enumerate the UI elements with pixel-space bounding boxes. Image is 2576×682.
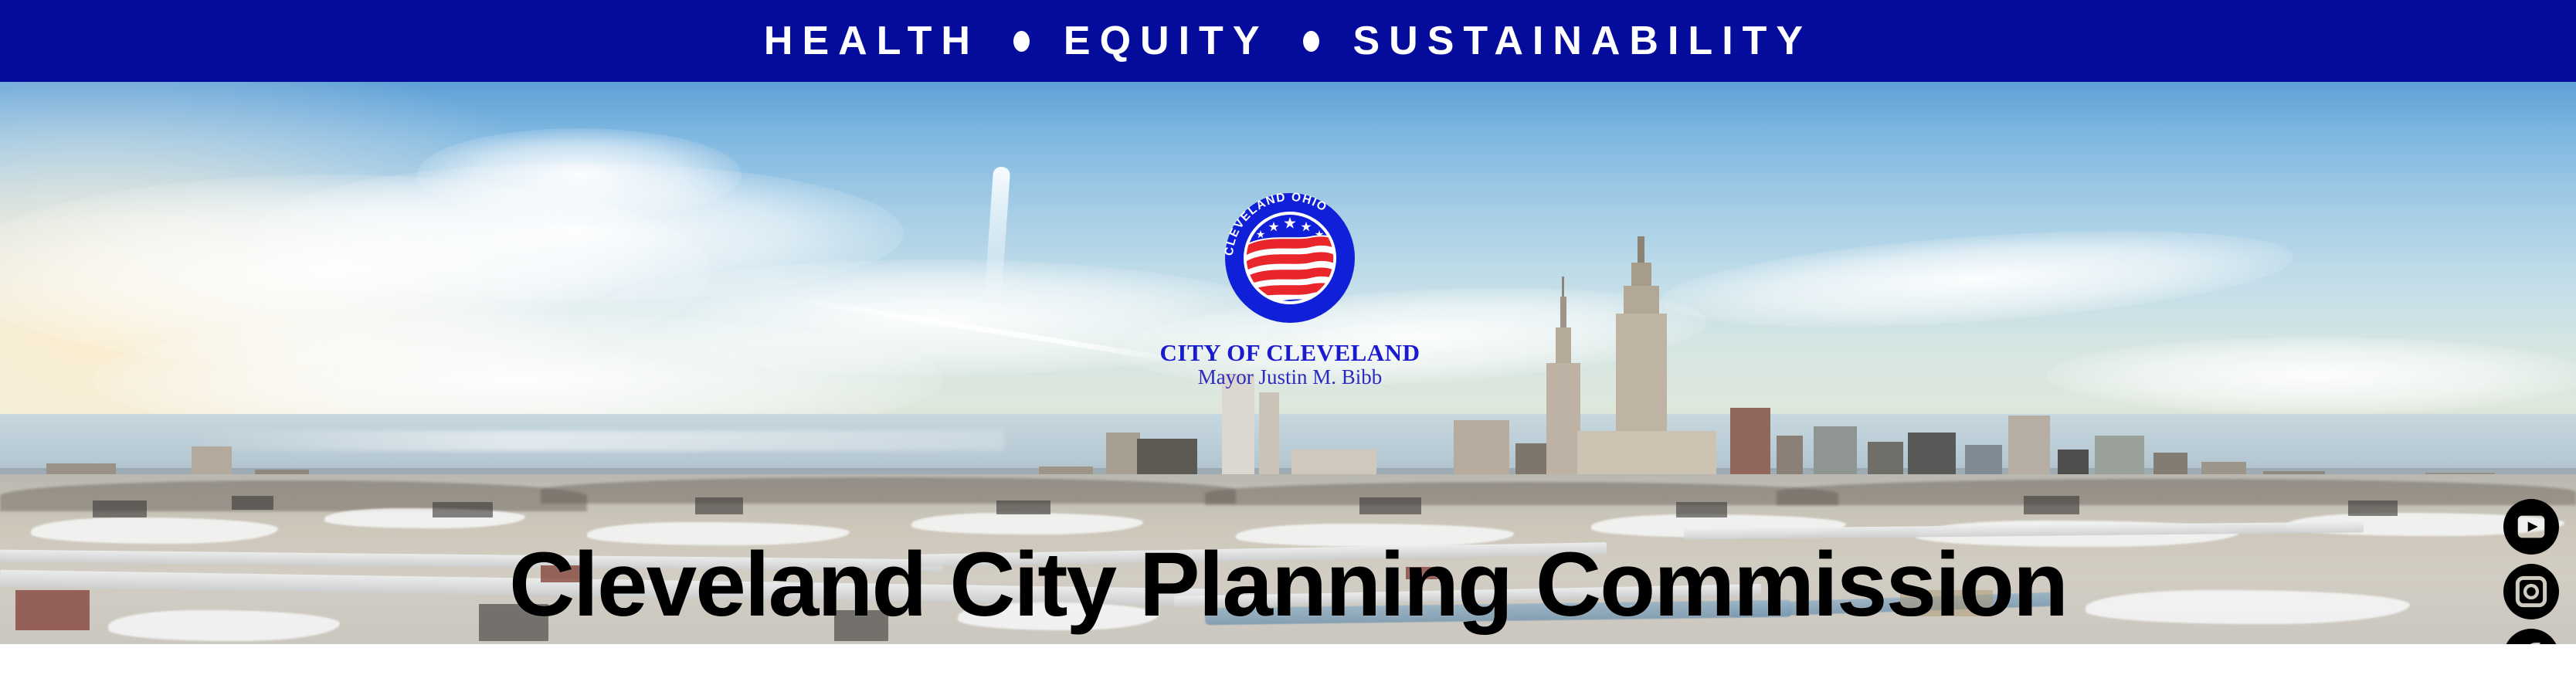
page-root: HEALTH EQUITY SUSTAINABILITY	[0, 0, 2576, 682]
city-of-cleveland-seal-icon: CITY OF CLEVELAND OHIO	[1213, 181, 1367, 335]
instagram-icon[interactable]	[2503, 564, 2559, 619]
tagline-word-equity: EQUITY	[1064, 21, 1269, 61]
logo-title: CITY OF CLEVELAND	[1143, 340, 1437, 365]
logo-subtitle: Mayor Justin M. Bibb	[1143, 365, 1437, 390]
tagline-separator-dot-2	[1303, 31, 1319, 52]
facebook-icon[interactable]	[2503, 629, 2559, 644]
tagline-banner-inner: HEALTH EQUITY SUSTAINABILITY	[764, 21, 1812, 61]
social-links	[2503, 499, 2559, 644]
tagline-banner: HEALTH EQUITY SUSTAINABILITY	[0, 0, 2576, 82]
hero-photo: CITY OF CLEVELAND OHIO	[0, 82, 2576, 644]
page-title: Cleveland City Planning Commission	[0, 539, 2576, 630]
city-seal-wrap: CITY OF CLEVELAND OHIO	[1143, 181, 1437, 335]
tagline-word-sustainability: SUSTAINABILITY	[1353, 21, 1813, 61]
tagline-word-health: HEALTH	[764, 21, 979, 61]
tagline-separator-dot-1	[1013, 31, 1030, 52]
city-of-cleveland-logo: CITY OF CLEVELAND OHIO	[1143, 181, 1437, 390]
youtube-icon[interactable]	[2503, 499, 2559, 555]
